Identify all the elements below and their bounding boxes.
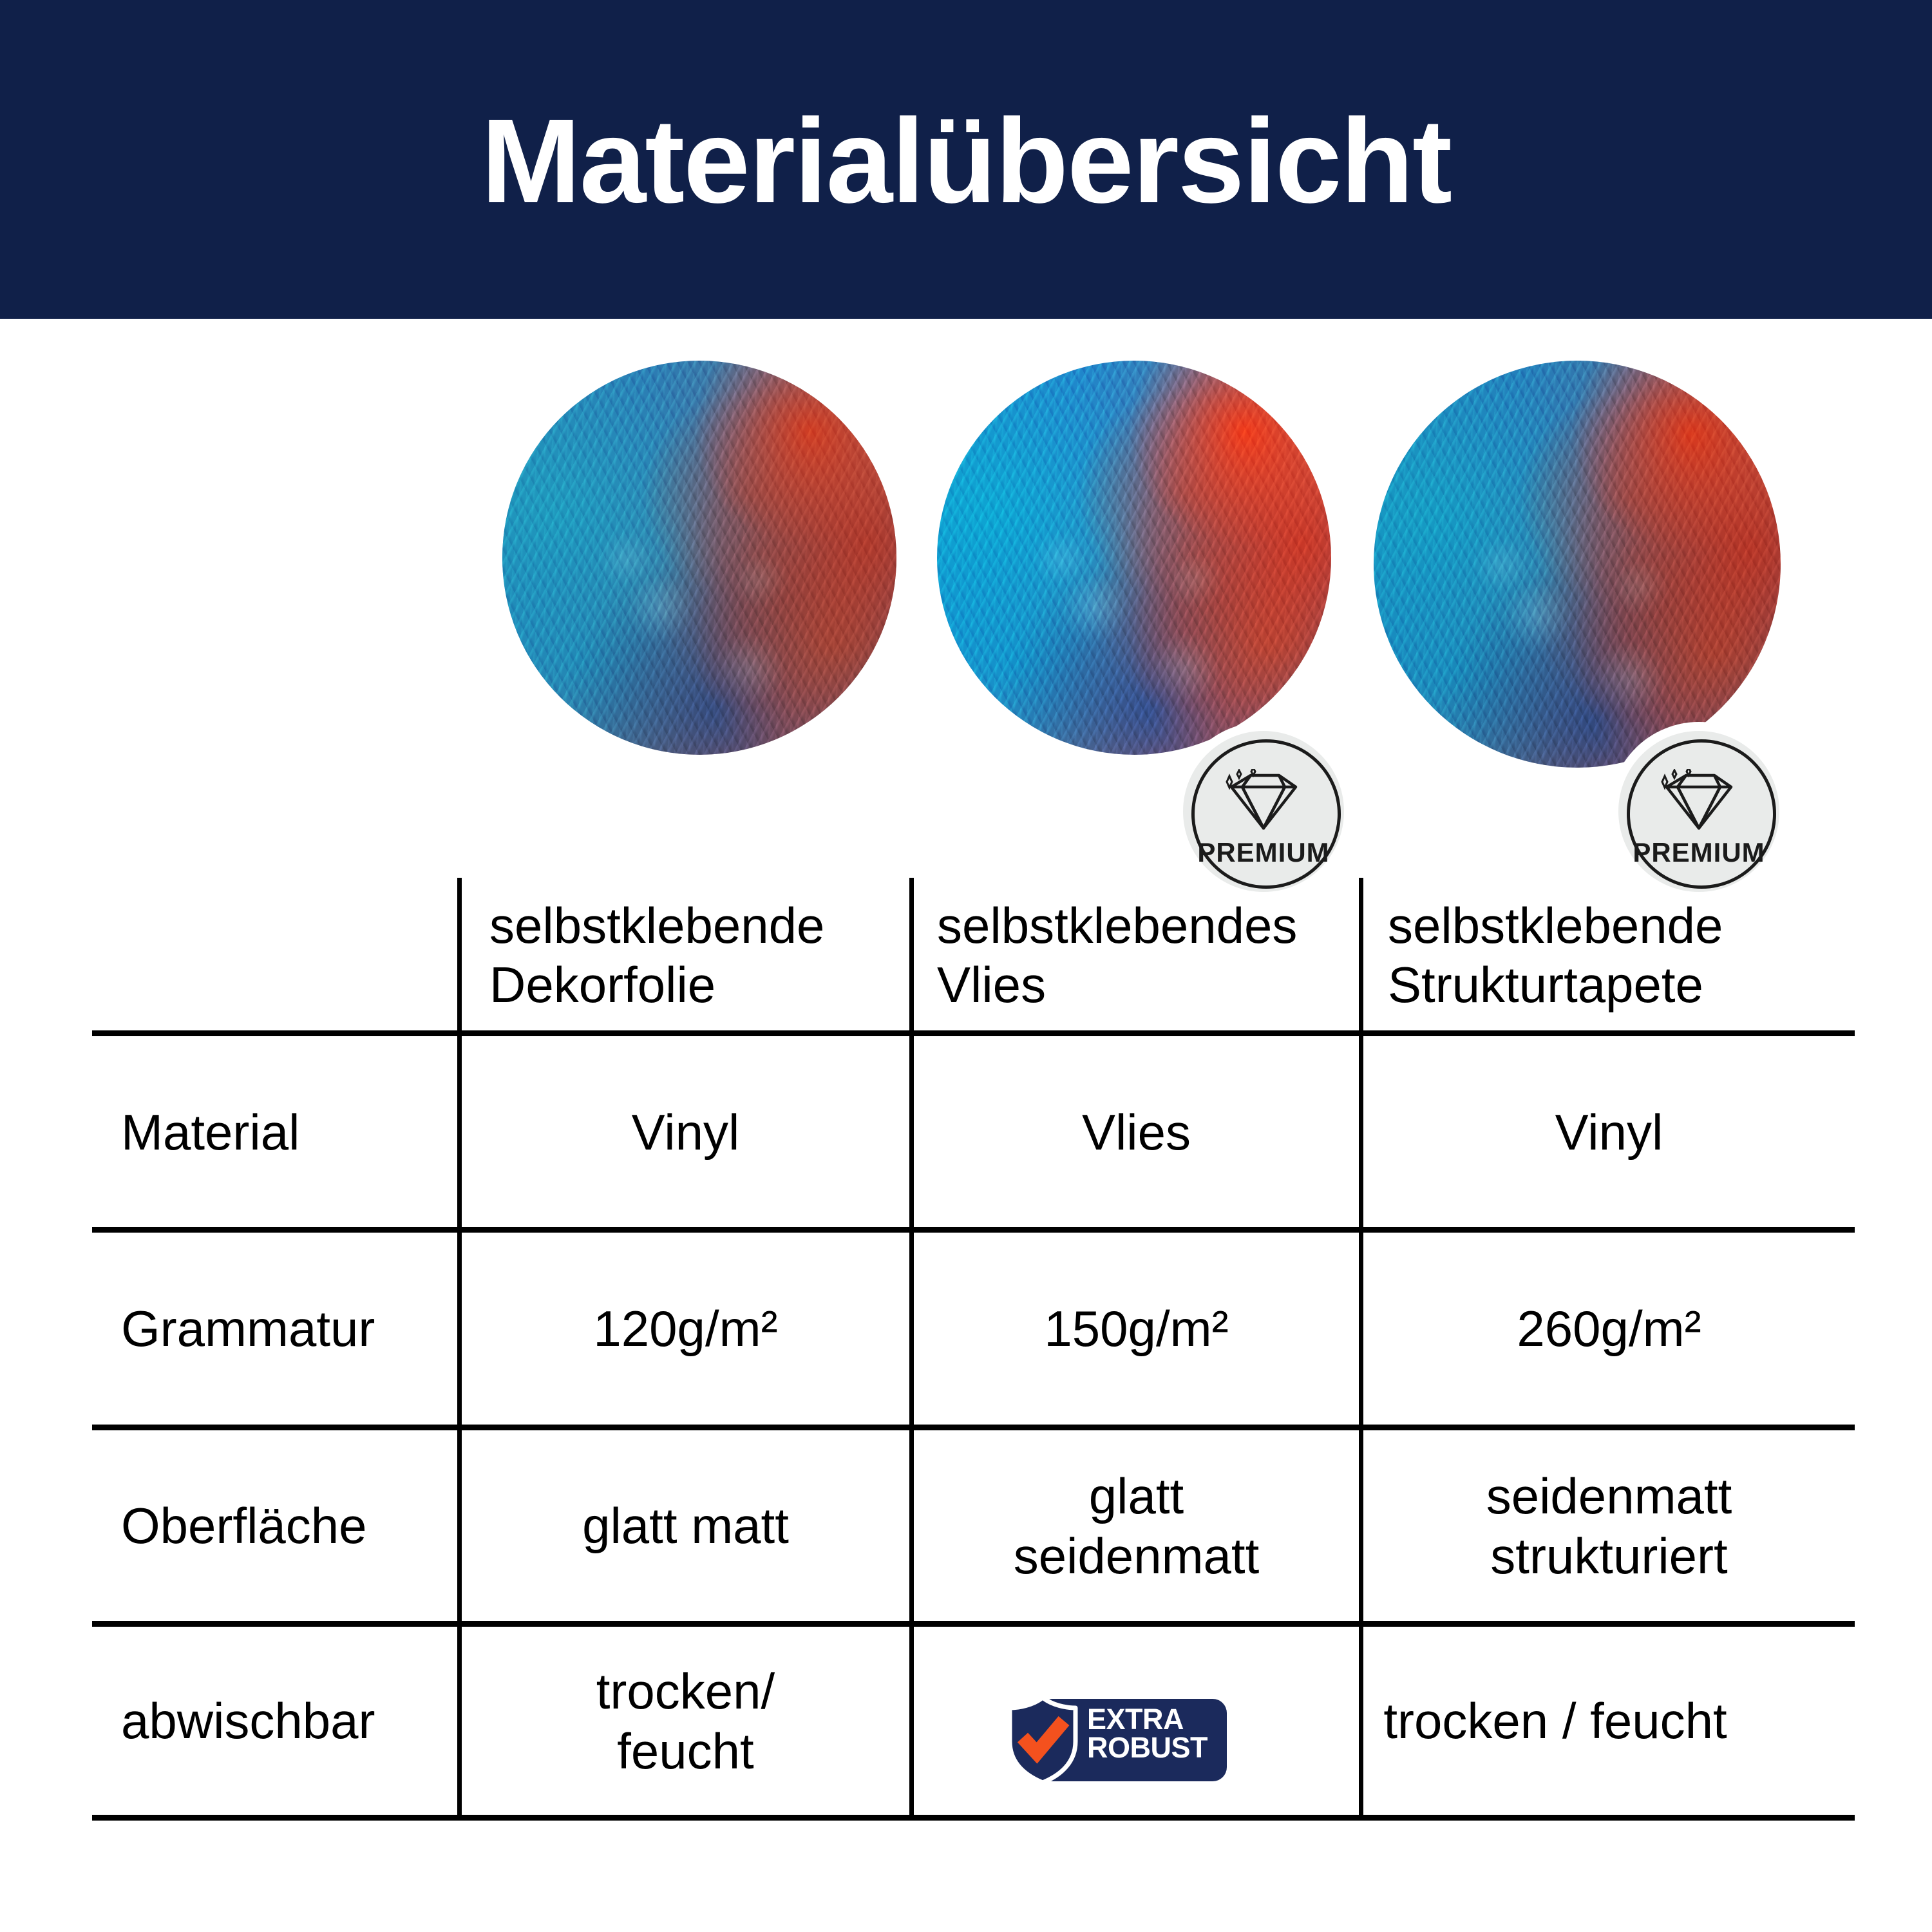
cell-abwischbar-dekorfolie: trocken/ feucht — [462, 1627, 909, 1815]
material-overview-page: Materialübersicht — [0, 0, 1932, 1932]
row-label-oberflaeche: Oberfläche — [121, 1431, 456, 1621]
table-rule — [92, 1815, 1855, 1821]
shield-check-icon — [1005, 1695, 1081, 1785]
cell-oberflaeche-dekorfolie: glatt matt — [462, 1431, 909, 1621]
table-rule — [92, 1030, 1855, 1036]
cell-abwischbar-merged: trocken / feucht — [1256, 1627, 1855, 1815]
cell-material-dekorfolie: Vinyl — [462, 1037, 909, 1227]
row-label-grammatur: Grammatur — [121, 1233, 456, 1425]
material-comparison-table: selbstklebende Dekorfolie selbstklebende… — [0, 0, 1932, 1932]
column-header-strukturtapete: selbstklebende Strukturtapete — [1388, 881, 1839, 1029]
table-divider — [457, 878, 462, 1819]
cell-material-vlies: Vlies — [914, 1037, 1359, 1227]
row-label-material: Material — [121, 1037, 456, 1227]
cell-grammatur-strukturtapete: 260g/m² — [1363, 1233, 1855, 1425]
column-header-dekorfolie: selbstklebende Dekorfolie — [489, 881, 902, 1029]
cell-material-strukturtapete: Vinyl — [1363, 1037, 1855, 1227]
extra-robust-badge: EXTRA ROBUST — [1005, 1695, 1227, 1785]
table-rule — [92, 1425, 1855, 1430]
table-rule — [92, 1227, 1855, 1233]
table-divider — [909, 878, 914, 1819]
column-header-vlies: selbstklebendes Vlies — [937, 881, 1349, 1029]
extra-robust-label: EXTRA ROBUST — [1087, 1705, 1222, 1762]
cell-grammatur-vlies: 150g/m² — [914, 1233, 1359, 1425]
cell-oberflaeche-strukturtapete: seidenmatt strukturiert — [1363, 1431, 1855, 1621]
cell-oberflaeche-vlies: glatt seidenmatt — [914, 1431, 1359, 1621]
row-label-abwischbar: abwischbar — [121, 1627, 456, 1815]
table-rule — [92, 1621, 1855, 1627]
cell-grammatur-dekorfolie: 120g/m² — [462, 1233, 909, 1425]
